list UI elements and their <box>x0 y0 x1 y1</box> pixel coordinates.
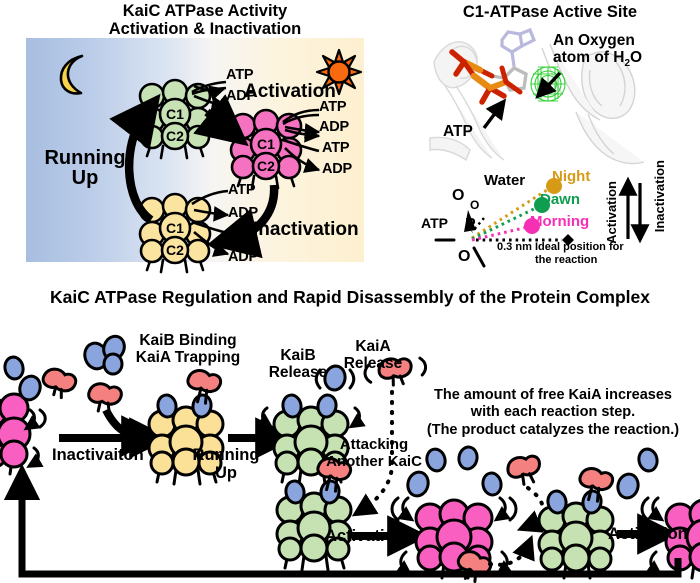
note-line-3: (The product catalyzes the reaction.) <box>412 422 694 439</box>
arrow-kaib-binding <box>106 410 142 436</box>
kaib-binding-line-1: KaiB Binding <box>108 332 268 349</box>
kaic-green-right <box>539 467 614 578</box>
kaib-binding-annotation: KaiB Binding KaiA Trapping <box>108 332 268 366</box>
note-line-1: The amount of free KaiA increases <box>412 387 694 404</box>
atp-label-magenta-2: ATP <box>322 140 349 156</box>
domain-label-c1: C1 <box>166 220 184 236</box>
oxygen-annotation: An Oxygen atom of H2O <box>553 32 693 70</box>
adp-label-magenta-2: ADP <box>322 161 352 177</box>
ideal-line-2: the reaction <box>535 254 645 267</box>
inactivation-axis-label: Inactivation <box>652 160 667 232</box>
step-label-activation-1: Activation <box>325 527 405 546</box>
attacking-line-2: Another KaiC <box>310 454 438 471</box>
running-up-label: Running Up <box>34 148 136 189</box>
inactivation-label: Inactivation <box>253 219 359 241</box>
kaia-release-line-1: KaiA <box>333 338 413 355</box>
running-up-line-1: Running <box>186 446 266 464</box>
dotted-path-3 <box>490 546 528 565</box>
kaib-binding-line-2: KaiA Trapping <box>108 349 268 366</box>
atp-pointer-arrow <box>480 100 514 132</box>
distance-label: 0.3 nm <box>497 241 532 253</box>
domain-label-c2: C2 <box>166 242 184 258</box>
panel-title-kaic-atpase: KaiC ATPase Activity Activation & Inacti… <box>60 2 350 39</box>
domain-label-c2: C2 <box>257 158 275 174</box>
released-kaib-final <box>615 447 659 500</box>
morning-label: Morning <box>530 213 589 230</box>
kaia-release-line-2: Release <box>333 355 413 372</box>
step-label-inactivation: Inactivaiton <box>52 446 144 465</box>
title-line-2: Activation & Inactivation <box>60 20 350 38</box>
atp-scheme-label: ATP <box>421 215 448 231</box>
running-up-line-2: Up <box>186 464 266 482</box>
water-label: Water <box>484 172 525 189</box>
panel-title-c1-atpase: C1-ATPase Active Site <box>400 3 700 21</box>
released-kaia-2 <box>505 453 543 487</box>
atp-structure-label: ATP <box>443 123 473 141</box>
phosphorus-label: P <box>465 216 476 234</box>
oxygen-label-2: O <box>470 198 479 212</box>
motion-lines <box>30 410 45 464</box>
adp-label-yellow-2: ADP <box>228 249 258 265</box>
activation-label: Activation <box>244 81 336 103</box>
step-label-activation-2: Activation <box>608 525 688 544</box>
activation-arrow <box>205 108 241 142</box>
kaic-magenta-start <box>0 394 45 474</box>
kaib-release-annotation: KaiB Release <box>258 347 338 381</box>
note-line-2: with each reaction step. <box>412 404 694 421</box>
kaic-magenta-active <box>392 498 516 578</box>
attacking-annotation: Attacking Another KaiC <box>310 437 438 470</box>
activation-inactivation-axis <box>620 175 656 245</box>
activation-axis-label: Activation <box>604 181 619 244</box>
kaib-release-line-1: KaiB <box>258 347 338 364</box>
adp-label-magenta-1: ADP <box>319 119 349 135</box>
domain-label-c2: C2 <box>166 128 184 144</box>
crescent-moon-icon <box>52 52 96 96</box>
domain-label-c1: C1 <box>257 136 275 152</box>
title-line-1: KaiC ATPase Activity <box>60 2 350 20</box>
oxygen-label-3: O <box>458 248 470 266</box>
oxygen-label-1: O <box>452 187 464 205</box>
free-kaia-binding <box>87 383 122 414</box>
free-kaia-1 <box>40 367 78 400</box>
kaib-release-line-2: Release <box>258 364 338 381</box>
domain-label-c1: C1 <box>166 106 184 122</box>
kaia-release-annotation: KaiA Release <box>333 338 413 372</box>
step-label-running-up: Running Up <box>186 446 266 482</box>
oxygen-pointer-arrow <box>530 70 566 102</box>
panel-title-bottom: KaiC ATPase Regulation and Rapid Disasse… <box>0 288 700 308</box>
night-label: Night <box>552 168 590 185</box>
running-up-line-1: Running <box>34 148 136 168</box>
free-kaia-note: The amount of free KaiA increases with e… <box>412 387 694 439</box>
oxygen-line-2: atom of H2O <box>553 49 693 69</box>
running-up-line-2: Up <box>34 168 136 188</box>
attacking-line-1: Attacking <box>310 437 438 454</box>
dawn-label: Dawn <box>540 191 580 208</box>
oxygen-line-1: An Oxygen <box>553 32 693 49</box>
